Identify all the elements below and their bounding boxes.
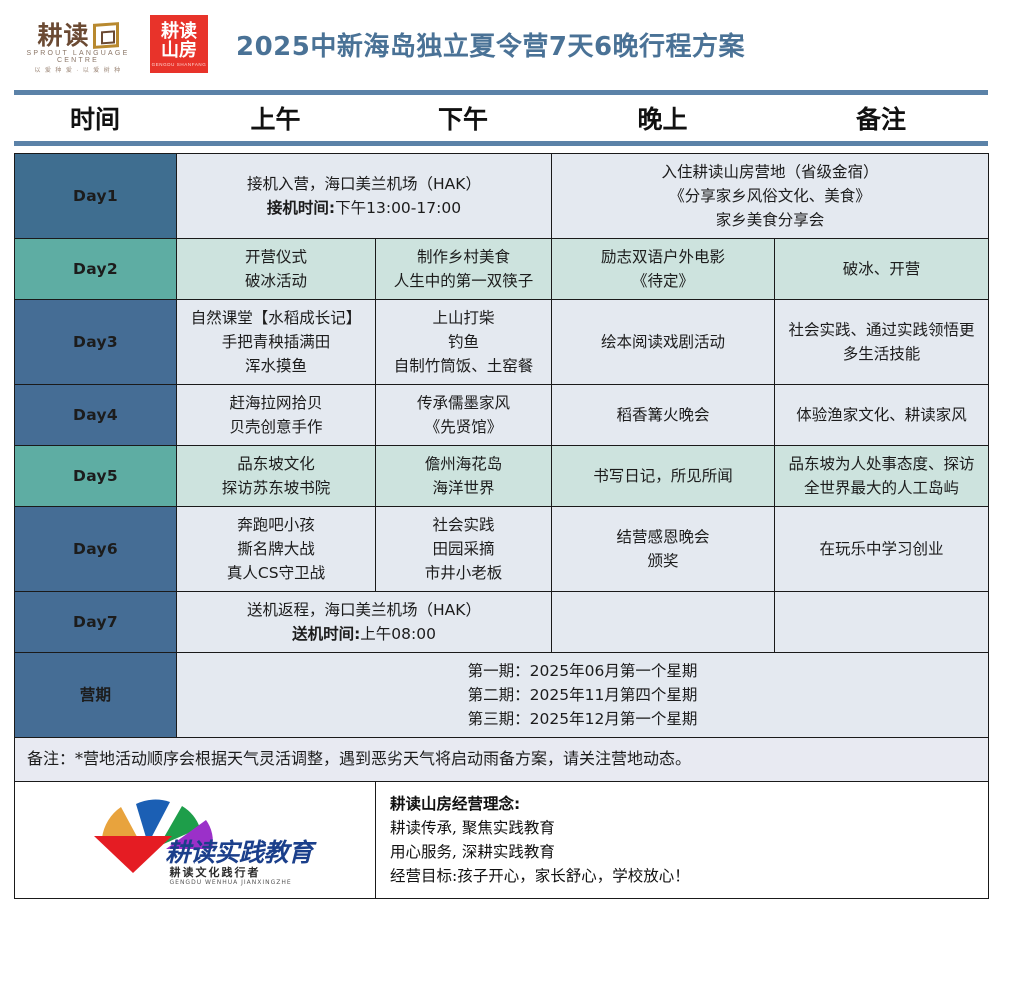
schedule-poster: 耕读 SPROUT LANGUAGE CENTRE 以 爱 种 爱 · 以 爱 …	[0, 0, 1009, 1006]
cell-line: 接机时间:下午13:00-17:00	[184, 196, 544, 220]
cell-line: 入住耕读山房营地（省级金宿）	[559, 160, 981, 184]
cell-line: 送机时间:上午08:00	[184, 622, 544, 646]
cell-line: 励志双语户外电影	[559, 245, 767, 269]
cell-day4-evening: 稻香篝火晚会	[552, 385, 775, 446]
cell-line: 奔跑吧小孩	[184, 513, 368, 537]
gengdu-practice-education-logo: 耕读实践教育 耕读文化践行者 GENGDU WENHUA JIANXINGZHE	[15, 784, 375, 896]
day-label-5: Day5	[15, 446, 177, 507]
cell-line: 《先贤馆》	[383, 415, 544, 439]
cell-line: 《待定》	[559, 269, 767, 293]
cell-line: 上山打柴	[383, 306, 544, 330]
table-row: Day4 赶海拉网拾贝 贝壳创意手作 传承儒墨家风 《先贤馆》 稻香篝火晚会 体…	[15, 385, 989, 446]
cell-day5-afternoon: 儋州海花岛 海洋世界	[376, 446, 552, 507]
cell-day6-afternoon: 社会实践 田园采摘 市井小老板	[376, 507, 552, 592]
campterm-line: 第一期：2025年06月第一个星期	[184, 659, 981, 683]
logo-chars: 耕读	[37, 23, 89, 48]
cell-day7-morning: 送机返程，海口美兰机场（HAK） 送机时间:上午08:00	[177, 592, 552, 653]
table-row: Day3 自然课堂【水稻成长记】 手把青秧插满田 浑水摸鱼 上山打柴 钓鱼 自制…	[15, 300, 989, 385]
day-label-6: Day6	[15, 507, 177, 592]
footer-text-cell: 耕读山房经营理念: 耕读传承, 聚焦实践教育 用心服务, 深耕实践教育 经营目标…	[376, 782, 989, 899]
cell-day5-note: 品东坡为人处事态度、探访全世界最大的人工岛屿	[775, 446, 989, 507]
page-title: 2025中新海岛独立夏令营7天6晚行程方案	[236, 26, 745, 63]
cell-line: 赶海拉网拾贝	[184, 391, 368, 415]
cell-day4-morning: 赶海拉网拾贝 贝壳创意手作	[177, 385, 376, 446]
column-header-afternoon: 下午	[375, 100, 551, 136]
campterm-line: 第三期：2025年12月第一个星期	[184, 707, 981, 731]
cell-day3-evening: 绘本阅读戏剧活动	[552, 300, 775, 385]
column-header-note: 备注	[774, 100, 988, 136]
table-column-headers: 时间 上午 下午 晚上 备注	[14, 90, 988, 146]
footer-line: 耕读传承, 聚焦实践教育	[390, 816, 988, 840]
cell-line-text: 上午08:00	[360, 625, 436, 643]
cell-line: 钓鱼	[383, 330, 544, 354]
table-row-footer: 耕读实践教育 耕读文化践行者 GENGDU WENHUA JIANXINGZHE…	[15, 782, 989, 899]
day-label-1: Day1	[15, 154, 177, 239]
cell-line: 结营感恩晚会	[559, 525, 767, 549]
logo-box-icon	[93, 22, 119, 49]
cell-line: 体验渔家文化、耕读家风	[782, 403, 981, 427]
day-label-2: Day2	[15, 239, 177, 300]
cell-day3-note: 社会实践、通过实践领悟更多生活技能	[775, 300, 989, 385]
logo-slogan: 以 爱 种 爱 · 以 爱 树 种	[18, 65, 138, 74]
red-logo-pinyin: GENGDU SHANFANG	[152, 62, 207, 67]
logo-english-name: SPROUT LANGUAGE CENTRE	[18, 50, 138, 64]
campterm-cell: 第一期：2025年06月第一个星期 第二期：2025年11月第四个星期 第三期：…	[177, 653, 989, 738]
remark-text: 备注：*营地活动顺序会根据天气灵活调整，遇到恶劣天气将启动雨备方案，请关注营地动…	[15, 738, 989, 782]
table-row: Day6 奔跑吧小孩 撕名牌大战 真人CS守卫战 社会实践 田园采摘 市井小老板…	[15, 507, 989, 592]
cell-day5-evening: 书写日记，所见所闻	[552, 446, 775, 507]
cell-line: 《分享家乡风俗文化、美食》	[559, 184, 981, 208]
cell-day7-evening	[552, 592, 775, 653]
cell-day1-evening: 入住耕读山房营地（省级金宿） 《分享家乡风俗文化、美食》 家乡美食分享会	[552, 154, 989, 239]
cell-line: 市井小老板	[383, 561, 544, 585]
cell-line: 书写日记，所见所闻	[559, 464, 767, 488]
day-label-7: Day7	[15, 592, 177, 653]
campterm-label: 营期	[15, 653, 177, 738]
table-row: Day5 品东坡文化 探访苏东坡书院 儋州海花岛 海洋世界 书写日记，所见所闻 …	[15, 446, 989, 507]
cell-line: 品东坡文化	[184, 452, 368, 476]
footer-logo-pinyin: GENGDU WENHUA JIANXINGZHE	[170, 878, 292, 887]
cell-day4-note: 体验渔家文化、耕读家风	[775, 385, 989, 446]
cell-day6-evening: 结营感恩晚会 颁奖	[552, 507, 775, 592]
red-logo-line1: 耕读	[161, 22, 197, 41]
cell-line: 探访苏东坡书院	[184, 476, 368, 500]
cell-day2-note: 破冰、开营	[775, 239, 989, 300]
cell-line: 制作乡村美食	[383, 245, 544, 269]
cell-line: 儋州海花岛	[383, 452, 544, 476]
table-row: Day7 送机返程，海口美兰机场（HAK） 送机时间:上午08:00	[15, 592, 989, 653]
footer-logo-cell: 耕读实践教育 耕读文化践行者 GENGDU WENHUA JIANXINGZHE	[15, 782, 376, 899]
sprout-language-centre-logo: 耕读 SPROUT LANGUAGE CENTRE 以 爱 种 爱 · 以 爱 …	[18, 14, 138, 74]
page-header: 耕读 SPROUT LANGUAGE CENTRE 以 爱 种 爱 · 以 爱 …	[0, 0, 1009, 88]
campterm-line: 第二期：2025年11月第四个星期	[184, 683, 981, 707]
cell-day7-note	[775, 592, 989, 653]
cell-line-bold: 接机时间:	[267, 199, 335, 217]
column-header-evening: 晚上	[551, 100, 774, 136]
schedule-table: Day1 接机入营，海口美兰机场（HAK） 接机时间:下午13:00-17:00…	[14, 153, 989, 899]
cell-line: 真人CS守卫战	[184, 561, 368, 585]
red-logo-line2: 山房	[161, 41, 197, 60]
cell-day2-morning: 开营仪式 破冰活动	[177, 239, 376, 300]
day-label-4: Day4	[15, 385, 177, 446]
cell-line: 海洋世界	[383, 476, 544, 500]
cell-day2-afternoon: 制作乡村美食 人生中的第一双筷子	[376, 239, 552, 300]
cell-line: 贝壳创意手作	[184, 415, 368, 439]
table-row: Day1 接机入营，海口美兰机场（HAK） 接机时间:下午13:00-17:00…	[15, 154, 989, 239]
cell-line: 撕名牌大战	[184, 537, 368, 561]
cell-line: 颁奖	[559, 549, 767, 573]
cell-day3-morning: 自然课堂【水稻成长记】 手把青秧插满田 浑水摸鱼	[177, 300, 376, 385]
column-header-time: 时间	[14, 100, 176, 136]
gengdu-shanfang-logo: 耕读 山房 GENGDU SHANFANG	[150, 15, 208, 73]
cell-line: 接机入营，海口美兰机场（HAK）	[184, 172, 544, 196]
cell-line: 绘本阅读戏剧活动	[559, 330, 767, 354]
table-row: Day2 开营仪式 破冰活动 制作乡村美食 人生中的第一双筷子 励志双语户外电影…	[15, 239, 989, 300]
cell-line: 送机返程，海口美兰机场（HAK）	[184, 598, 544, 622]
cell-line: 品东坡为人处事态度、探访全世界最大的人工岛屿	[782, 452, 981, 500]
cell-day6-note: 在玩乐中学习创业	[775, 507, 989, 592]
cell-line: 破冰活动	[184, 269, 368, 293]
cell-line: 自制竹筒饭、土窑餐	[383, 354, 544, 378]
cell-line: 传承儒墨家风	[383, 391, 544, 415]
cell-day4-afternoon: 传承儒墨家风 《先贤馆》	[376, 385, 552, 446]
cell-line: 开营仪式	[184, 245, 368, 269]
cell-day6-morning: 奔跑吧小孩 撕名牌大战 真人CS守卫战	[177, 507, 376, 592]
cell-line: 破冰、开营	[782, 257, 981, 281]
table-row-remark: 备注：*营地活动顺序会根据天气灵活调整，遇到恶劣天气将启动雨备方案，请关注营地动…	[15, 738, 989, 782]
footer-heading: 耕读山房经营理念:	[390, 792, 988, 816]
cell-line: 家乡美食分享会	[559, 208, 981, 232]
cell-line: 稻香篝火晚会	[559, 403, 767, 427]
cell-line: 人生中的第一双筷子	[383, 269, 544, 293]
cell-line: 自然课堂【水稻成长记】	[184, 306, 368, 330]
cell-line-text: 下午13:00-17:00	[335, 199, 461, 217]
cell-line-bold: 送机时间:	[292, 625, 360, 643]
cell-day3-afternoon: 上山打柴 钓鱼 自制竹筒饭、土窑餐	[376, 300, 552, 385]
cell-line: 社会实践、通过实践领悟更多生活技能	[782, 318, 981, 366]
column-header-morning: 上午	[176, 100, 375, 136]
cell-line: 在玩乐中学习创业	[782, 537, 981, 561]
cell-line: 手把青秧插满田	[184, 330, 368, 354]
table-row-campterm: 营期 第一期：2025年06月第一个星期 第二期：2025年11月第四个星期 第…	[15, 653, 989, 738]
red-triangle-icon	[94, 836, 172, 873]
footer-line: 经营目标:孩子开心，家长舒心，学校放心！	[390, 864, 988, 888]
cell-day1-morning: 接机入营，海口美兰机场（HAK） 接机时间:下午13:00-17:00	[177, 154, 552, 239]
cell-line: 田园采摘	[383, 537, 544, 561]
cell-day5-morning: 品东坡文化 探访苏东坡书院	[177, 446, 376, 507]
day-label-3: Day3	[15, 300, 177, 385]
cell-line: 浑水摸鱼	[184, 354, 368, 378]
footer-line: 用心服务, 深耕实践教育	[390, 840, 988, 864]
cell-line: 社会实践	[383, 513, 544, 537]
cell-day2-evening: 励志双语户外电影 《待定》	[552, 239, 775, 300]
